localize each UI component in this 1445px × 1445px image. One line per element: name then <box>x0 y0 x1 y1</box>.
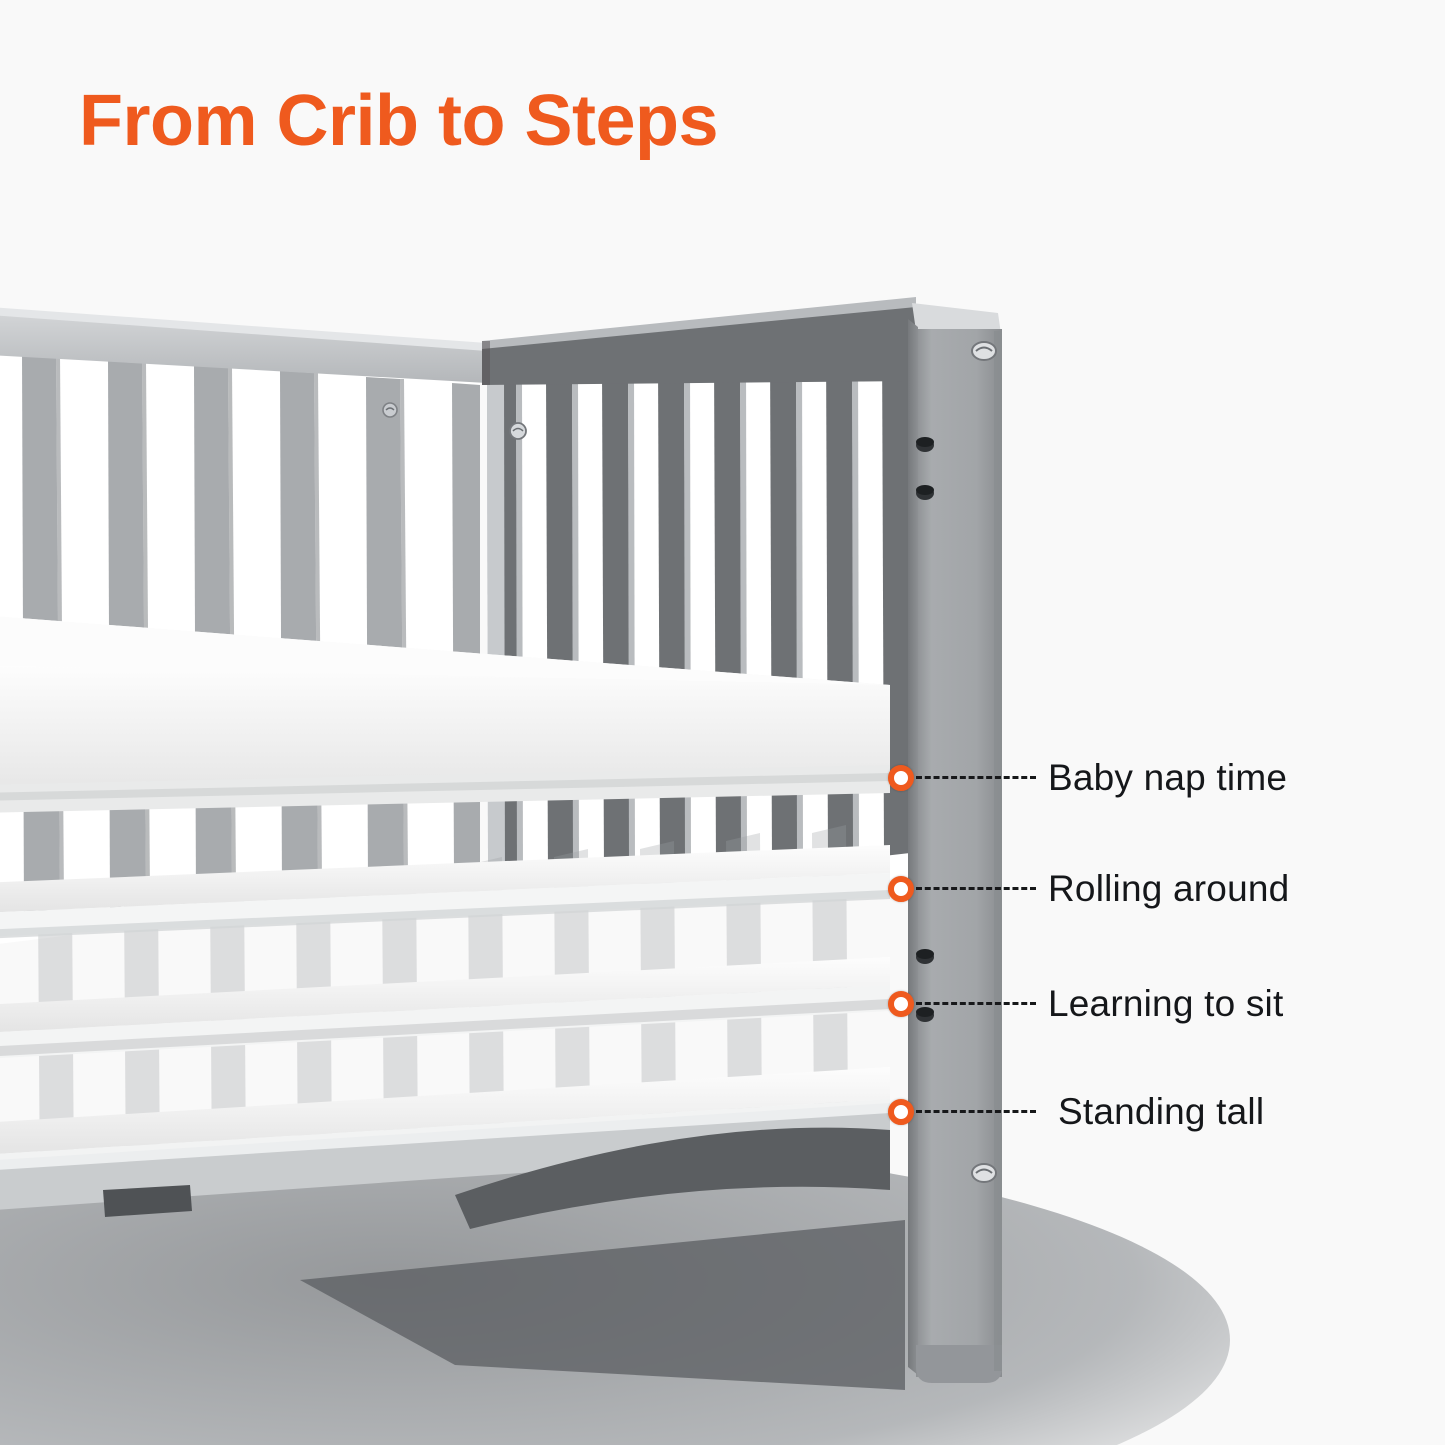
leader-line <box>916 1002 1036 1005</box>
screw-icon <box>972 1164 996 1182</box>
adjustment-hole <box>916 949 934 964</box>
callout-label: Rolling around <box>1048 866 1289 912</box>
orange-ring-marker-icon <box>888 876 914 902</box>
adjustment-hole <box>916 1007 934 1022</box>
orange-ring-marker-icon <box>888 1099 914 1125</box>
back-panel-top-rail <box>482 303 916 385</box>
screw-icon <box>383 403 397 417</box>
page-title: From Crib to Steps <box>79 78 718 164</box>
leader-line <box>916 776 1036 779</box>
adjustment-hole <box>916 437 934 452</box>
screw-icon <box>972 342 996 360</box>
callout-label: Learning to sit <box>1048 981 1283 1027</box>
callout-label: Standing tall <box>1058 1089 1264 1135</box>
crib-illustration <box>0 285 1445 1445</box>
product-photo <box>0 285 1445 1445</box>
infographic-canvas: From Crib to Steps <box>0 0 1445 1445</box>
callout-label: Baby nap time <box>1048 755 1287 801</box>
screw-icon <box>510 423 526 439</box>
leader-line <box>916 1110 1036 1113</box>
leader-line <box>916 887 1036 890</box>
crib-corner-post <box>908 303 1002 1383</box>
adjustment-hole <box>916 485 934 500</box>
orange-ring-marker-icon <box>888 765 914 791</box>
back-panel-slats <box>480 315 920 895</box>
orange-ring-marker-icon <box>888 991 914 1017</box>
crib-back-panel <box>480 297 920 895</box>
